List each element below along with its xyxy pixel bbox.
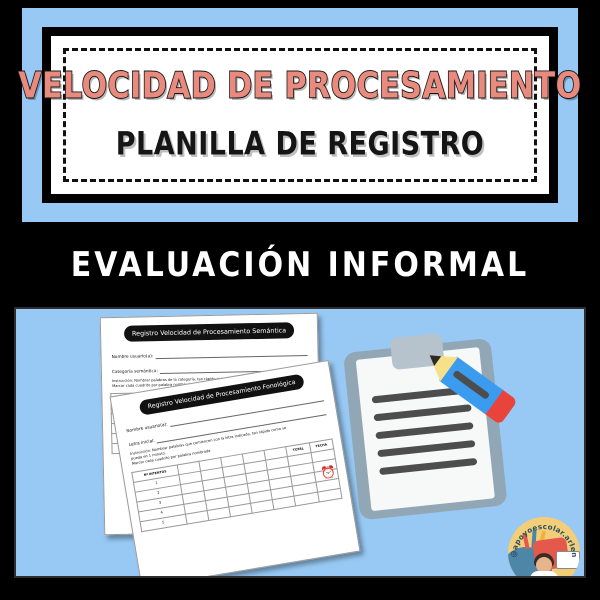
cell: [207, 507, 230, 521]
cell: [185, 510, 208, 524]
field-label: Categoría semántica:: [112, 369, 158, 375]
clipboard-illustration: [332, 323, 521, 530]
header-white-panel: VELOCIDAD DE PROCESAMIENTO PLANILLA DE R…: [51, 36, 549, 194]
evaluation-band-label: EVALUACIÓN INFORMAL: [71, 245, 529, 284]
brand-logo[interactable]: @apoyoescolar.arlen: [508, 517, 580, 578]
page-title: VELOCIDAD DE PROCESAMIENTO: [18, 68, 581, 105]
page-subtitle: PLANILLA DE REGISTRO: [116, 128, 485, 161]
header-black-frame: VELOCIDAD DE PROCESAMIENTO PLANILLA DE R…: [42, 27, 558, 203]
worksheet-preview-fonologica[interactable]: Registro Velocidad de Procesamiento Fono…: [110, 360, 361, 578]
cell: [251, 499, 274, 513]
evaluation-band: EVALUACIÓN INFORMAL: [0, 222, 600, 308]
field-label: Nombre usuario(a):: [112, 354, 154, 360]
avatar: [530, 571, 558, 578]
cell: [229, 503, 252, 517]
alarm-clock-icon: ⏰: [320, 465, 337, 479]
logo-laptop-icon: [556, 551, 580, 569]
header-dashed-border: VELOCIDAD DE PROCESAMIENTO PLANILLA DE R…: [63, 48, 537, 182]
preview-panel: Registro Velocidad de Procesamiento Semá…: [14, 307, 586, 578]
cell: [272, 496, 296, 510]
poster-canvas: VELOCIDAD DE PROCESAMIENTO PLANILLA DE R…: [0, 0, 600, 600]
